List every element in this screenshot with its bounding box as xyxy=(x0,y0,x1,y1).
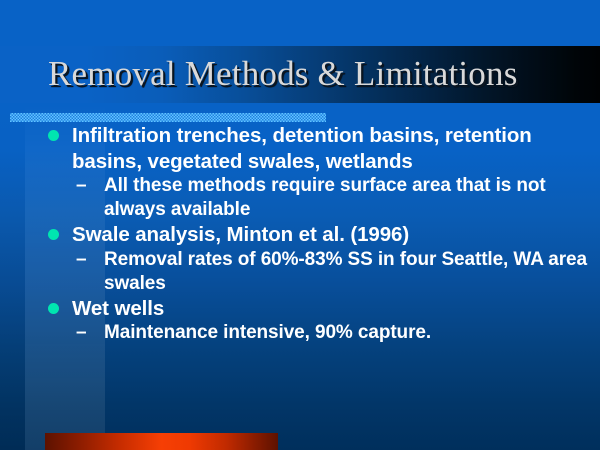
slide-canvas: Removal Methods & Limitations Infiltrati… xyxy=(0,0,600,450)
list-item: Infiltration trenches, detention basins,… xyxy=(0,123,600,174)
list-item: – Removal rates of 60%-83% SS in four Se… xyxy=(0,248,600,296)
list-item-text: All these methods require surface area t… xyxy=(104,174,588,222)
bullet-disc-icon xyxy=(48,229,59,240)
list-item-text: Removal rates of 60%-83% SS in four Seat… xyxy=(104,248,588,296)
list-item-text: Wet wells xyxy=(72,296,588,322)
accent-bar xyxy=(45,433,278,450)
slide-body-list: Infiltration trenches, detention basins,… xyxy=(0,123,600,345)
list-item-text: Maintenance intensive, 90% capture. xyxy=(104,321,588,345)
list-item: Swale analysis, Minton et al. (1996) xyxy=(0,222,600,248)
list-item: – Maintenance intensive, 90% capture. xyxy=(0,321,600,345)
list-item-text: Swale analysis, Minton et al. (1996) xyxy=(72,222,588,248)
bullet-disc-icon xyxy=(48,130,59,141)
bullet-dash-icon: – xyxy=(76,321,86,345)
list-item: Wet wells xyxy=(0,296,600,322)
bullet-dash-icon: – xyxy=(76,174,86,198)
list-item-text: Infiltration trenches, detention basins,… xyxy=(72,123,588,174)
bullet-dash-icon: – xyxy=(76,248,86,272)
title-underline-rule xyxy=(10,113,326,122)
bullet-disc-icon xyxy=(48,303,59,314)
list-item: – All these methods require surface area… xyxy=(0,174,600,222)
slide-title: Removal Methods & Limitations xyxy=(48,51,588,97)
